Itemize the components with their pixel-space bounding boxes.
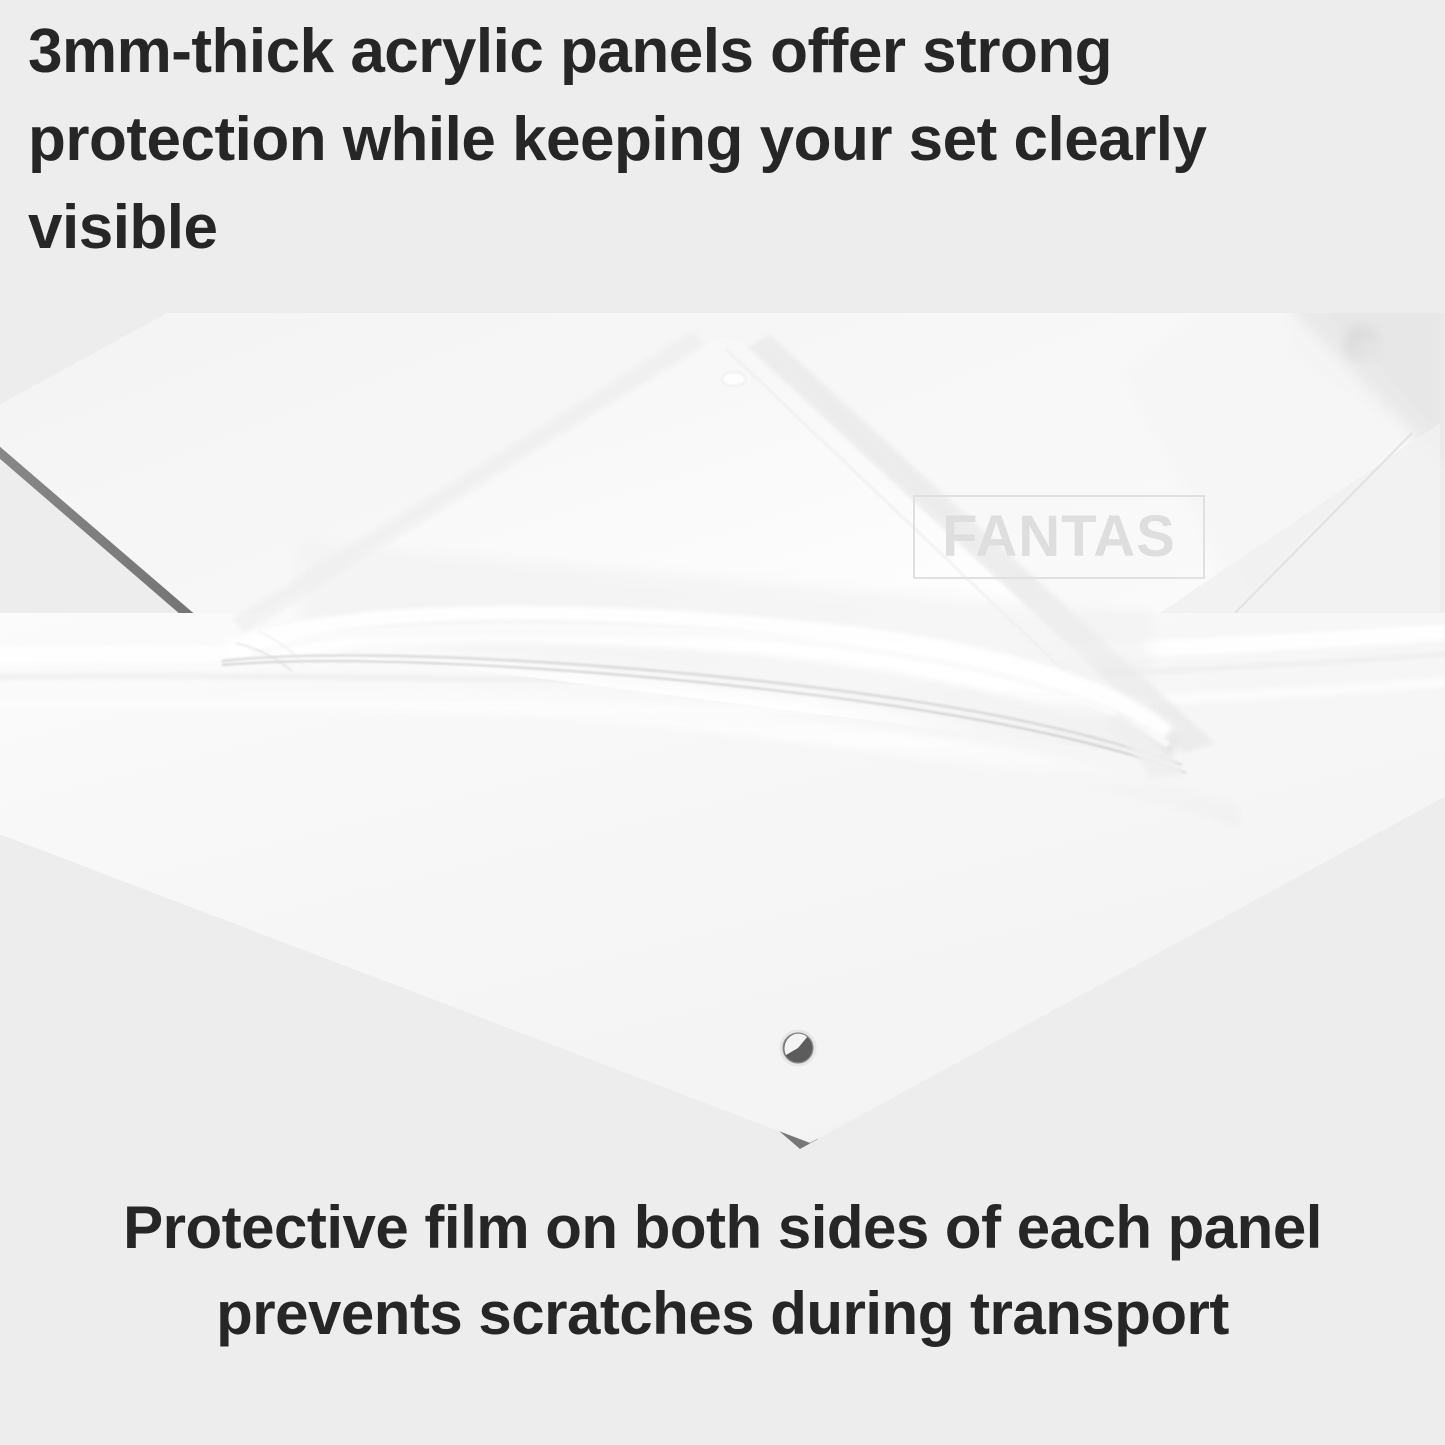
bottom-mounting-hole [781,1031,815,1065]
product-feature-card: 3mm-thick acrylic panels offer strong pr… [0,0,1445,1445]
film-flap-mounting-hole [723,373,745,385]
acrylic-panel-illustration [0,313,1445,1168]
top-right-mounting-hole [1347,328,1377,358]
caption-text: Protective film on both sides of each pa… [0,1185,1445,1445]
product-photo: FANTAS [0,313,1445,1168]
headline-text: 3mm-thick acrylic panels offer strong pr… [0,0,1445,313]
